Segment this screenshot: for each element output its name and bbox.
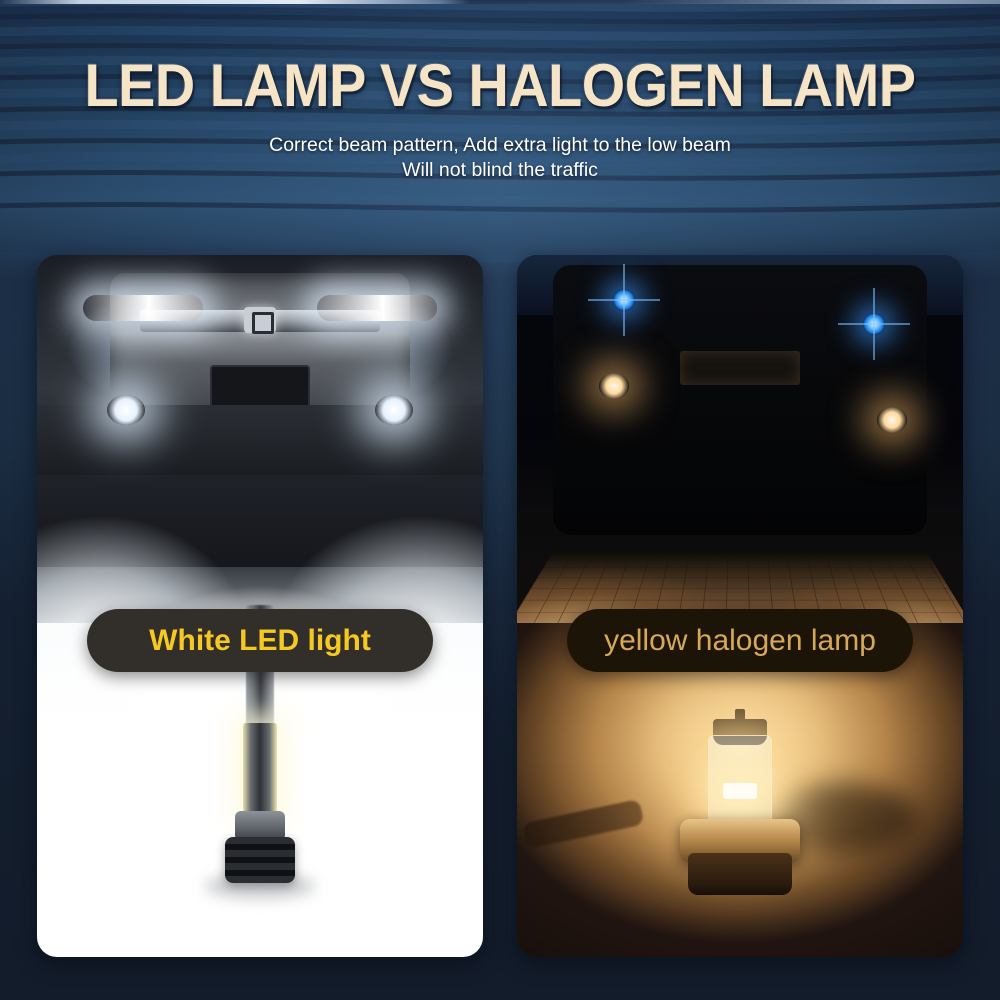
license-plate [210, 365, 310, 409]
led-headlight-right [317, 295, 437, 321]
led-fog-light-right [375, 395, 413, 425]
led-bulb-chip [243, 723, 277, 815]
halogen-car-photo [517, 255, 963, 645]
comparison-panels: White LED light [37, 255, 963, 957]
blue-light-right [863, 313, 885, 335]
led-headlight-left [83, 295, 203, 321]
halogen-fog-light-left [599, 373, 629, 399]
blue-light-left [613, 289, 635, 311]
led-label-text: White LED light [149, 624, 371, 658]
halogen-fog-light-right [877, 407, 907, 433]
led-bulb-photo [37, 623, 483, 957]
page-subtitle: Correct beam pattern, Add extra light to… [0, 117, 1000, 183]
dark-license-plate [680, 351, 800, 385]
led-panel[interactable]: White LED light [37, 255, 483, 957]
car-bumper [37, 405, 483, 475]
subtitle-line-1: Correct beam pattern, Add extra light to… [0, 133, 1000, 158]
dark-car-body [553, 265, 928, 535]
infographic-stage: LED LAMP VS HALOGEN LAMP Correct beam pa… [0, 0, 1000, 1000]
led-fog-light-left [107, 395, 145, 425]
led-bulb-base [225, 837, 295, 883]
halogen-photo-vignette [517, 623, 963, 957]
halogen-bulb-photo [517, 623, 963, 957]
halogen-label-pill[interactable]: yellow halogen lamp [567, 609, 913, 672]
header: LED LAMP VS HALOGEN LAMP Correct beam pa… [0, 0, 1000, 183]
halogen-label-text: yellow halogen lamp [604, 624, 876, 658]
honda-emblem-icon [244, 307, 276, 333]
halogen-panel[interactable]: yellow halogen lamp [517, 255, 963, 957]
subtitle-line-2: Will not blind the traffic [0, 158, 1000, 183]
page-title: LED LAMP VS HALOGEN LAMP [35, 0, 965, 117]
led-label-pill[interactable]: White LED light [87, 609, 433, 672]
